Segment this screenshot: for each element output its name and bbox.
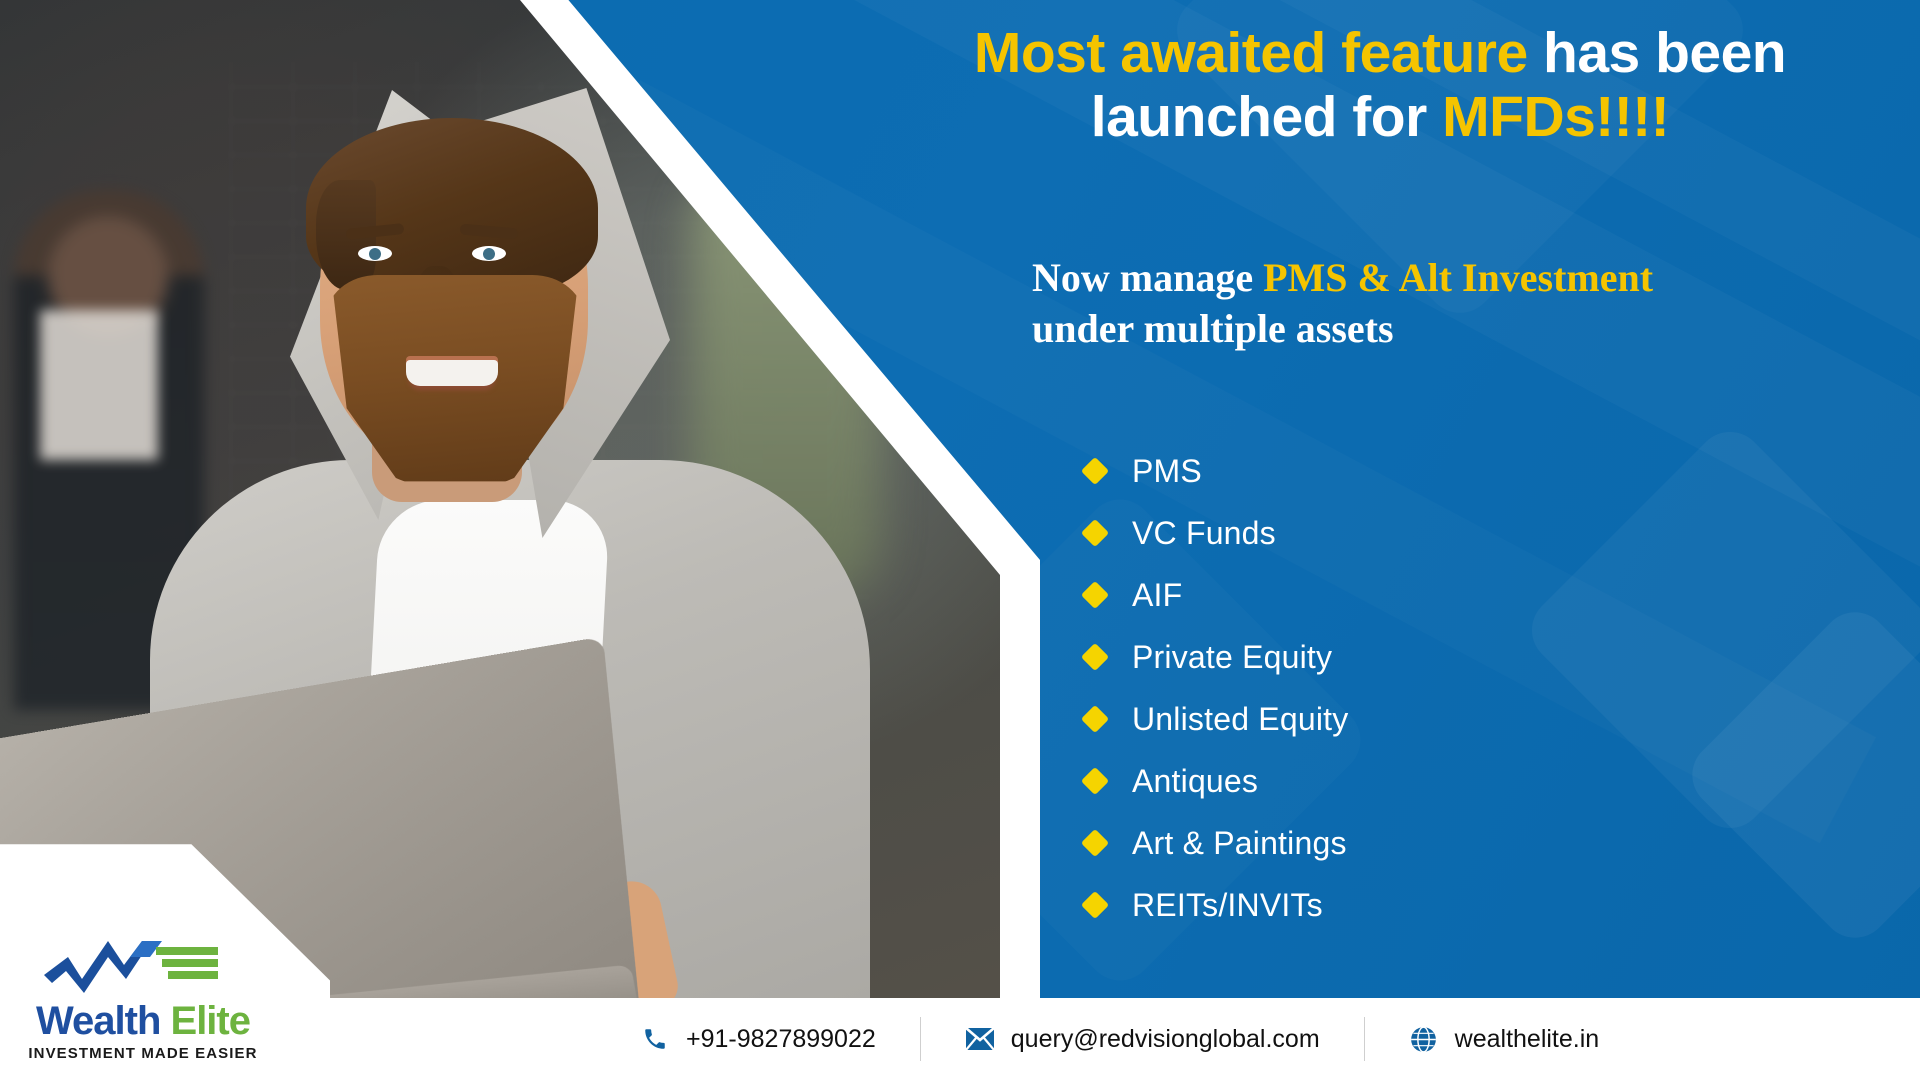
website-url: wealthelite.in [1455, 1025, 1600, 1054]
list-item-label: Unlisted Equity [1132, 701, 1348, 738]
footer-divider [920, 1017, 921, 1061]
asset-class-list: PMS VC Funds AIF Private Equity Unlisted… [1085, 440, 1348, 936]
list-item: REITs/INVITs [1085, 874, 1348, 936]
list-item: PMS [1085, 440, 1348, 502]
phone-icon [640, 1024, 670, 1054]
footer-divider [1364, 1017, 1365, 1061]
logo-tagline: INVESTMENT MADE EASIER [18, 1045, 268, 1062]
diamond-bullet-icon [1081, 891, 1109, 919]
list-item-label: PMS [1132, 453, 1202, 490]
diamond-bullet-icon [1081, 457, 1109, 485]
subheadline-plain-1: Now manage [1032, 255, 1263, 300]
headline-line-2: launched for MFDs!!!! [880, 86, 1880, 150]
diamond-bullet-icon [1081, 519, 1109, 547]
headline-rest-2: launched for [1091, 85, 1442, 149]
list-item: Art & Paintings [1085, 812, 1348, 874]
list-item-label: REITs/INVITs [1132, 887, 1323, 924]
logo-wordmark: Wealth Elite [18, 1001, 268, 1041]
wealth-elite-w-mark-icon [18, 935, 268, 997]
diamond-bullet-icon [1081, 829, 1109, 857]
subheadline-line-1: Now manage PMS & Alt Investment [1032, 252, 1920, 303]
diamond-bullet-icon [1081, 581, 1109, 609]
diamond-bullet-icon [1081, 643, 1109, 671]
list-item: AIF [1085, 564, 1348, 626]
envelope-icon [965, 1024, 995, 1054]
headline-highlight-2: MFDs!!!! [1442, 85, 1669, 149]
list-item-label: Private Equity [1132, 639, 1332, 676]
list-item: Unlisted Equity [1085, 688, 1348, 750]
contact-website[interactable]: wealthelite.in [1409, 1024, 1600, 1054]
list-item: Private Equity [1085, 626, 1348, 688]
subheadline-highlight: PMS & Alt Investment [1263, 255, 1653, 300]
headline-rest-1: has been [1528, 21, 1786, 85]
hair [306, 118, 598, 298]
list-item: VC Funds [1085, 502, 1348, 564]
list-item-label: Antiques [1132, 763, 1258, 800]
subheadline: Now manage PMS & Alt Investment under mu… [1032, 252, 1920, 354]
list-item-label: Art & Paintings [1132, 825, 1347, 862]
diamond-bullet-icon [1081, 705, 1109, 733]
diamond-bullet-icon [1081, 767, 1109, 795]
globe-icon [1409, 1024, 1439, 1054]
list-item-label: VC Funds [1132, 515, 1276, 552]
brand-logo[interactable]: Wealth Elite INVESTMENT MADE EASIER [18, 935, 268, 1062]
subheadline-line-2: under multiple assets [1032, 303, 1920, 354]
headline: Most awaited feature has been launched f… [880, 22, 1880, 150]
email-address: query@redvisionglobal.com [1011, 1025, 1320, 1054]
logo-word-elite: Elite [171, 999, 250, 1043]
contact-phone[interactable]: +91-9827899022 [640, 1024, 876, 1054]
contact-email[interactable]: query@redvisionglobal.com [965, 1024, 1320, 1054]
phone-number: +91-9827899022 [686, 1025, 876, 1054]
promo-banner: Most awaited feature has been launched f… [0, 0, 1920, 1080]
list-item-label: AIF [1132, 577, 1182, 614]
eye-left [358, 246, 392, 261]
eye-right [472, 246, 506, 261]
mouth [406, 360, 498, 386]
logo-word-wealth: Wealth [36, 999, 160, 1043]
list-item: Antiques [1085, 750, 1348, 812]
headline-highlight-1: Most awaited feature [974, 21, 1528, 85]
headline-line-1: Most awaited feature has been [880, 22, 1880, 86]
